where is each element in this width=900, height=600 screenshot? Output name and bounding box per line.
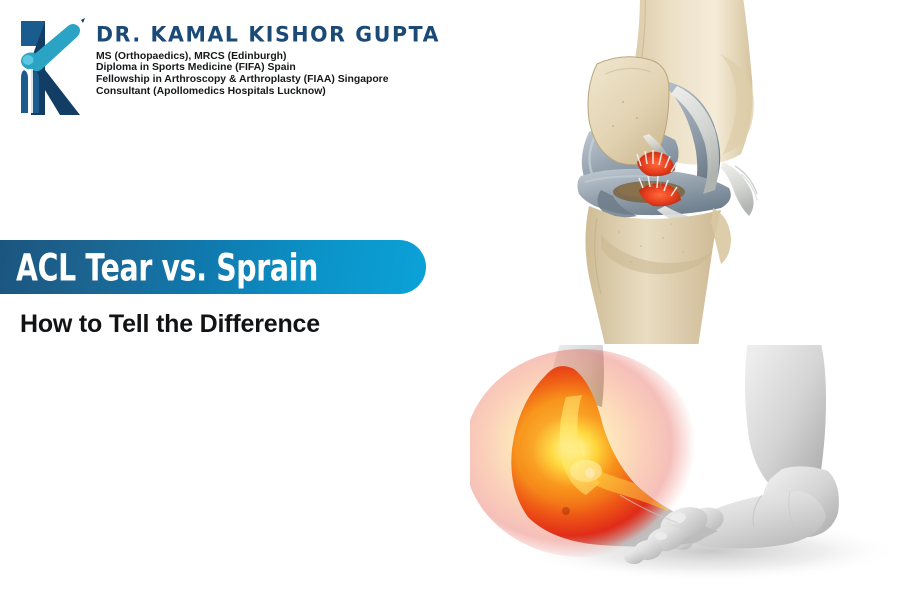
doctor-name: DR. KAMAL KISHOR GUPTA [96, 24, 440, 46]
banner-title: ACL Tear vs. Sprain [16, 245, 318, 289]
clinic-header: DR. KAMAL KISHOR GUPTA MS (Orthopaedics)… [12, 14, 440, 122]
left-foot-injured [470, 345, 718, 564]
ankle-sprain-pain-illustration [470, 345, 900, 600]
credential-line: Fellowship in Arthroscopy & Arthroplasty… [96, 74, 440, 86]
credentials-list: MS (Orthopaedics), MRCS (Edinburgh) Dipl… [96, 51, 440, 98]
page-subtitle: How to Tell the Difference [20, 310, 320, 339]
poster-canvas: DR. KAMAL KISHOR GUPTA MS (Orthopaedics)… [0, 0, 900, 600]
knee-joint-anatomy-illustration [545, 0, 875, 344]
title-banner: ACL Tear vs. Sprain [0, 240, 426, 294]
knee-joint-k-logo[interactable] [12, 14, 88, 122]
clinic-identity-text: DR. KAMAL KISHOR GUPTA MS (Orthopaedics)… [96, 14, 440, 98]
trademark-tick-icon [81, 18, 85, 23]
credential-line: Consultant (Apollomedics Hospitals Luckn… [96, 86, 440, 98]
credential-line: MS (Orthopaedics), MRCS (Edinburgh) [96, 51, 440, 63]
credential-line: Diploma in Sports Medicine (FIFA) Spain [96, 62, 440, 74]
